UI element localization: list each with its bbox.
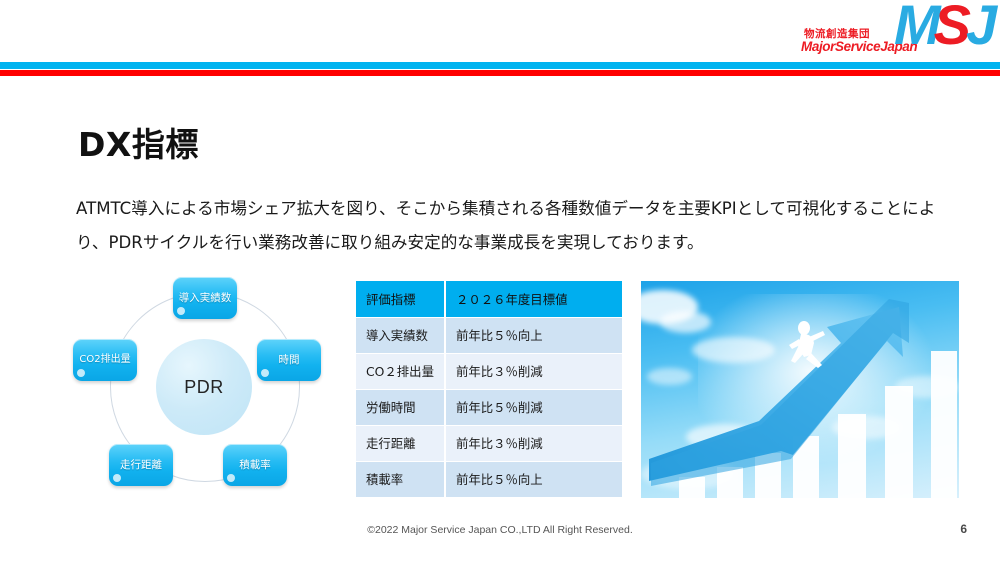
company-logo: 物流創造集団 MajorServiceJapan MSJ <box>798 0 994 58</box>
cell-metric: 導入実績数 <box>356 317 445 353</box>
cell-target: 前年比５％削減 <box>445 389 622 425</box>
cycle-node-label: 走行距離 <box>120 459 162 471</box>
header-rule-cyan <box>0 62 1000 69</box>
table-row: 労働時間 前年比５％削減 <box>356 389 622 425</box>
header-rule-red <box>0 70 1000 76</box>
logo-letter-s: S <box>934 0 968 56</box>
column-header-metric: 評価指標 <box>356 281 445 317</box>
lead-paragraph: ATMTC導入による市場シェア拡大を図り、そこから集積される各種数値データを主要… <box>76 192 936 260</box>
cell-target: 前年比３％削減 <box>445 353 622 389</box>
cell-metric: CO２排出量 <box>356 353 445 389</box>
growth-photo <box>641 281 959 498</box>
kpi-table-body: 導入実績数 前年比５％向上 CO２排出量 前年比３％削減 労働時間 前年比５％削… <box>356 317 622 497</box>
cell-metric: 積載率 <box>356 461 445 497</box>
logo-letter-j: J <box>966 0 994 56</box>
cycle-center-circle: PDR <box>156 339 252 435</box>
rising-arrow-icon <box>641 281 959 498</box>
cell-target: 前年比３％削減 <box>445 425 622 461</box>
cycle-node-label: 導入実績数 <box>179 292 232 304</box>
table-row: 導入実績数 前年比５％向上 <box>356 317 622 353</box>
cycle-node-bottom-left[interactable]: 走行距離 <box>109 444 173 486</box>
logo-msj-mark: MSJ <box>894 0 994 54</box>
table-row: 走行距離 前年比３％削減 <box>356 425 622 461</box>
cell-metric: 走行距離 <box>356 425 445 461</box>
cycle-node-right[interactable]: 時間 <box>257 339 321 381</box>
cell-metric: 労働時間 <box>356 389 445 425</box>
table-row: CO２排出量 前年比３％削減 <box>356 353 622 389</box>
cycle-node-label: 積載率 <box>239 459 271 471</box>
pdr-cycle-diagram: PDR 導入実績数 時間 積載率 走行距離 CO2排出量 <box>63 272 348 507</box>
slide-root: 物流創造集団 MajorServiceJapan MSJ DX指標 ATMTC導… <box>0 0 1000 563</box>
logo-letter-m: M <box>894 0 938 56</box>
cycle-node-left[interactable]: CO2排出量 <box>73 339 137 381</box>
footer-copyright: ©2022 Major Service Japan CO.,LTD All Ri… <box>0 524 1000 536</box>
column-header-target: ２０２６年度目標値 <box>445 281 622 317</box>
runner-silhouette-icon <box>789 321 825 368</box>
cycle-center-label: PDR <box>184 377 224 398</box>
kpi-table: 評価指標 ２０２６年度目標値 導入実績数 前年比５％向上 CO２排出量 前年比３… <box>356 281 622 498</box>
cycle-node-label: 時間 <box>279 354 300 366</box>
page-title: DX指標 <box>78 118 199 166</box>
cycle-node-bottom-right[interactable]: 積載率 <box>223 444 287 486</box>
cycle-node-label: CO2排出量 <box>79 354 130 366</box>
table-row: 積載率 前年比５％向上 <box>356 461 622 497</box>
table-header-row: 評価指標 ２０２６年度目標値 <box>356 281 622 317</box>
cell-target: 前年比５％向上 <box>445 317 622 353</box>
cell-target: 前年比５％向上 <box>445 461 622 497</box>
kpi-table-head: 評価指標 ２０２６年度目標値 <box>356 281 622 317</box>
cycle-node-top[interactable]: 導入実績数 <box>173 277 237 319</box>
page-number: 6 <box>960 522 967 536</box>
